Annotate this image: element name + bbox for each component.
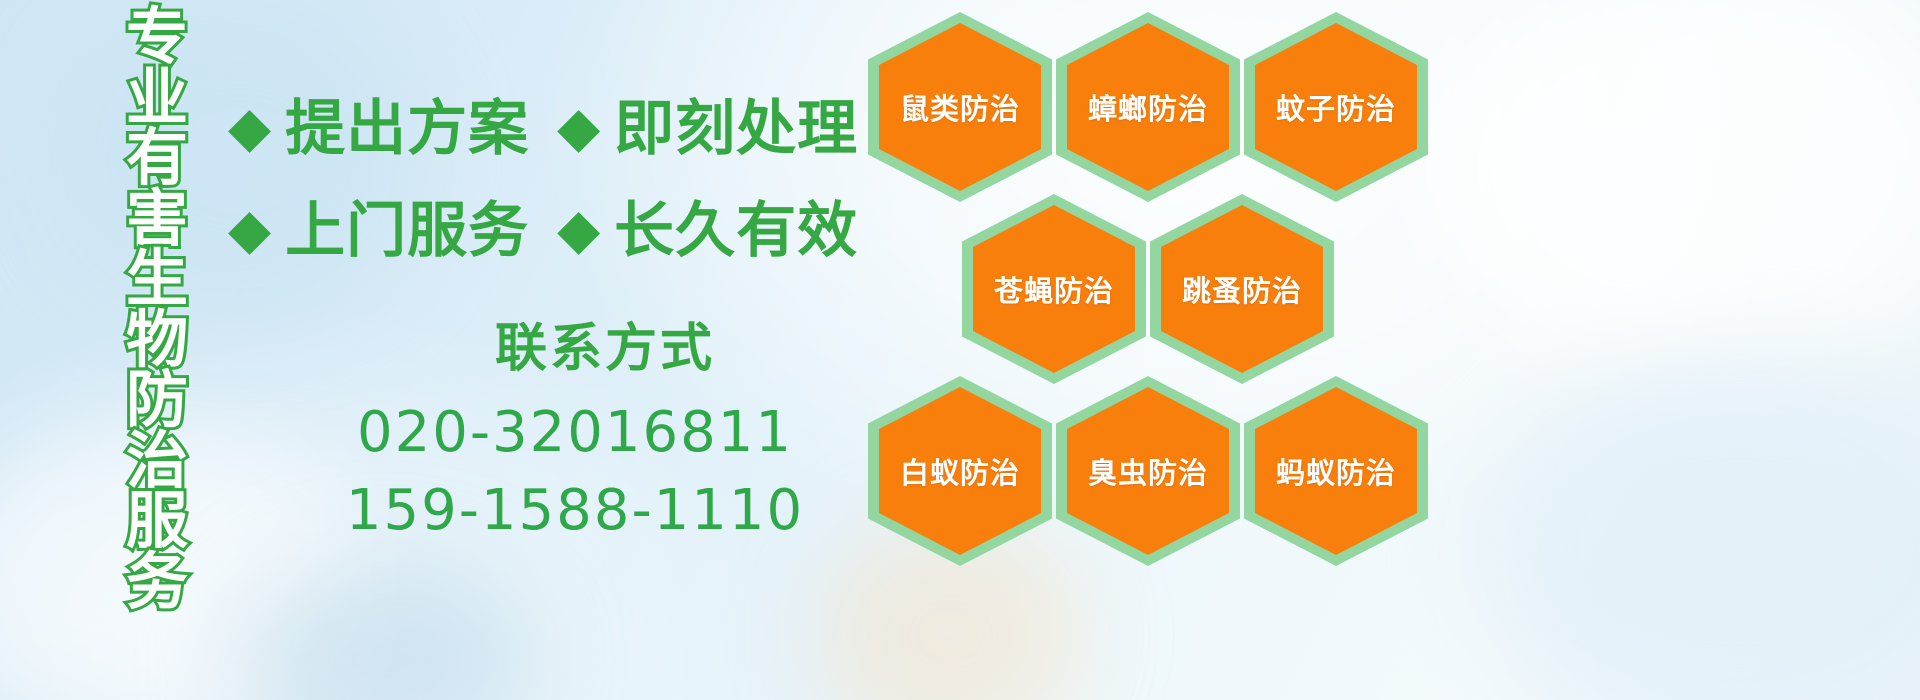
service-hexagon-bedbug[interactable]: 臭虫防治 <box>1056 376 1240 566</box>
service-label: 鼠类防治 <box>900 86 1020 128</box>
feature-row: ◆ 上门服务 ◆ 长久有效 <box>228 180 868 282</box>
background-blob <box>1430 0 1920 380</box>
vertical-headline-char: 业 <box>126 69 188 130</box>
contact-title: 联系方式 <box>390 318 820 380</box>
service-label: 苍蝇防治 <box>994 268 1114 310</box>
feature-label: 长久有效 <box>614 201 858 261</box>
service-hexagon-mosquito[interactable]: 蚊子防治 <box>1244 12 1428 202</box>
service-hexagon-ant[interactable]: 蚂蚁防治 <box>1244 376 1428 566</box>
feature-row: ◆ 提出方案 ◆ 即刻处理 <box>228 78 868 180</box>
diamond-bullet-icon: ◆ <box>228 201 271 257</box>
contact-block: 联系方式 020-32016811 159-1588-1110 <box>300 318 820 550</box>
feature-label: 即刻处理 <box>614 99 858 159</box>
vertical-headline: 专 业 有 害 生 物 防 治 服 务 <box>108 8 206 568</box>
service-hexagon-cockroach[interactable]: 蟑螂防治 <box>1056 12 1240 202</box>
service-honeycomb: 鼠类防治 蟑螂防治 蚊子防治 苍蝇防治 跳蚤防治 白蚁防治 <box>864 4 1444 564</box>
vertical-headline-char: 专 <box>126 8 188 69</box>
vertical-headline-char: 生 <box>126 250 188 311</box>
vertical-headline-char: 治 <box>126 432 188 493</box>
feature-label: 上门服务 <box>285 201 529 261</box>
diamond-bullet-icon: ◆ <box>228 99 271 155</box>
service-label: 臭虫防治 <box>1088 450 1208 492</box>
diamond-bullet-icon: ◆ <box>557 99 600 155</box>
vertical-headline-char: 物 <box>126 311 188 372</box>
vertical-headline-char: 务 <box>126 553 188 614</box>
feature-list: ◆ 提出方案 ◆ 即刻处理 ◆ 上门服务 ◆ 长久有效 <box>228 78 868 282</box>
service-hexagon-termite[interactable]: 白蚁防治 <box>868 376 1052 566</box>
pest-control-banner: 专 业 有 害 生 物 防 治 服 务 ◆ 提出方案 ◆ 即刻处理 ◆ 上门服务… <box>0 0 1920 700</box>
service-hexagon-fly[interactable]: 苍蝇防治 <box>962 194 1146 384</box>
service-hexagon-flea[interactable]: 跳蚤防治 <box>1150 194 1334 384</box>
diamond-bullet-icon: ◆ <box>557 201 600 257</box>
vertical-headline-char: 有 <box>126 129 188 190</box>
phone-number-mobile[interactable]: 159-1588-1110 <box>330 472 820 550</box>
phone-number-landline[interactable]: 020-32016811 <box>330 394 820 472</box>
service-label: 蚂蚁防治 <box>1276 450 1396 492</box>
vertical-headline-char: 害 <box>126 190 188 251</box>
vertical-headline-char: 服 <box>126 492 188 553</box>
background-blob <box>230 560 530 700</box>
service-hexagon-rodent[interactable]: 鼠类防治 <box>868 12 1052 202</box>
background-blob <box>1480 360 1920 700</box>
service-label: 蟑螂防治 <box>1088 86 1208 128</box>
feature-label: 提出方案 <box>285 99 529 159</box>
service-label: 白蚁防治 <box>900 450 1020 492</box>
service-label: 跳蚤防治 <box>1182 268 1302 310</box>
vertical-headline-char: 防 <box>126 371 188 432</box>
service-label: 蚊子防治 <box>1276 86 1396 128</box>
